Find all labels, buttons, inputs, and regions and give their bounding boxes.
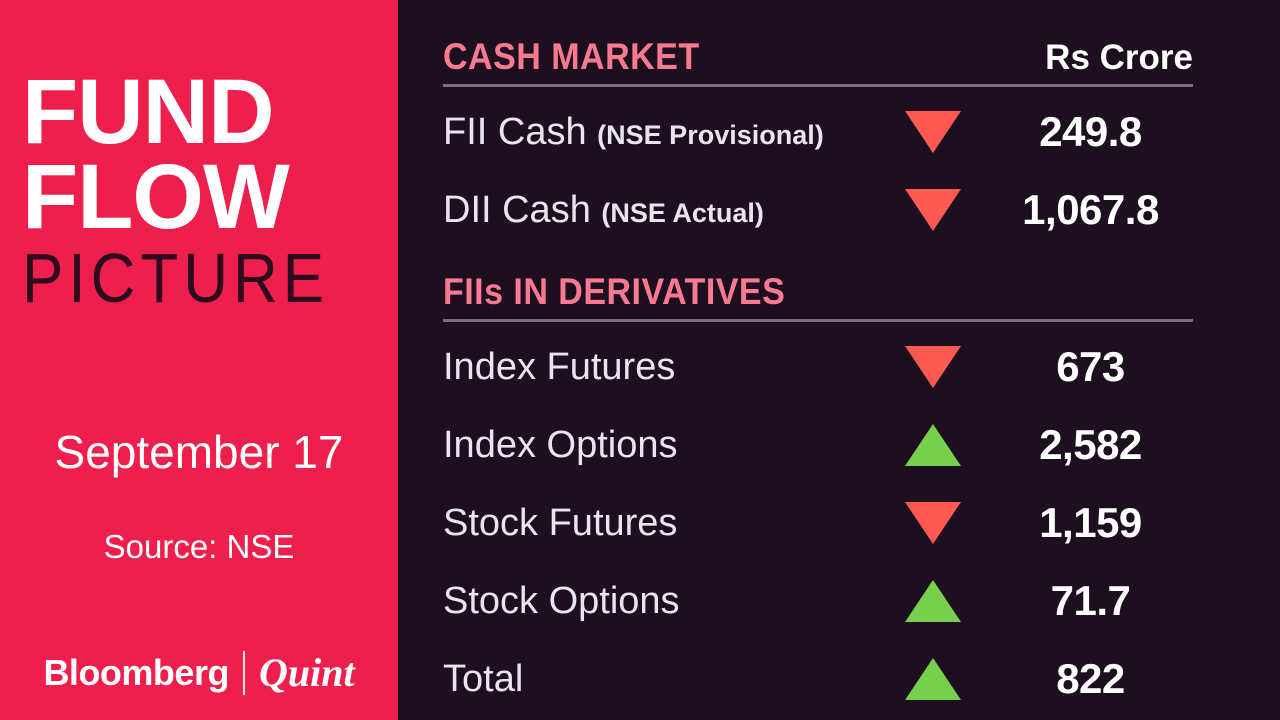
direction-cell [878, 502, 988, 544]
fund-flow-infographic: FUND FLOW PICTURE September 17 Source: N… [0, 0, 1280, 720]
brand-title-line-1: FUND [22, 70, 382, 155]
logo-separator-icon [243, 651, 245, 695]
brand-title-line-2: FLOW [22, 155, 382, 240]
row-sublabel-text: (NSE Actual) [601, 198, 764, 228]
row-value-total: 822 [988, 655, 1193, 703]
direction-cell [878, 424, 988, 466]
section-cash-market-header: CASH MARKET Rs Crore [443, 36, 1193, 80]
row-value-dii-cash: 1,067.8 [988, 186, 1193, 234]
direction-cell [878, 111, 988, 153]
row-label-stock-futures: Stock Futures [443, 502, 878, 545]
logo-bloomberg-text: Bloomberg [43, 652, 229, 694]
table-row: Stock Options 71.7 [443, 562, 1193, 640]
row-value-index-futures: 673 [988, 343, 1193, 391]
table-row: Index Futures 673 [443, 328, 1193, 406]
row-label-text: Index Options [443, 424, 677, 466]
row-label-text: DII Cash [443, 189, 591, 231]
data-panel: CASH MARKET Rs Crore FII Cash (NSE Provi… [398, 0, 1280, 720]
cash-market-rows: FII Cash (NSE Provisional) 249.8 DII Cas… [443, 93, 1193, 249]
section-cash-market-title: CASH MARKET [443, 36, 700, 78]
triangle-up-icon [905, 580, 961, 622]
section-divider [443, 319, 1193, 322]
data-source-label: Source: NSE [0, 528, 398, 566]
triangle-down-icon [905, 346, 961, 388]
table-row: DII Cash (NSE Actual) 1,067.8 [443, 171, 1193, 249]
row-sublabel-text: (NSE Provisional) [597, 120, 824, 150]
row-value-fii-cash: 249.8 [988, 108, 1193, 156]
direction-cell [878, 580, 988, 622]
triangle-down-icon [905, 111, 961, 153]
publisher-logo: Bloomberg Quint [0, 649, 398, 696]
brand-title-block: FUND FLOW PICTURE [22, 70, 382, 307]
row-label-index-options: Index Options [443, 424, 878, 467]
row-label-stock-options: Stock Options [443, 580, 878, 623]
derivatives-rows: Index Futures 673 Index Options 2,582 [443, 328, 1193, 718]
row-value-stock-options: 71.7 [988, 577, 1193, 625]
report-date: September 17 [0, 425, 398, 479]
table-row: Total 822 [443, 640, 1193, 718]
table-row: Index Options 2,582 [443, 406, 1193, 484]
row-value-index-options: 2,582 [988, 421, 1193, 469]
brand-title-line-3: PICTURE [22, 245, 382, 314]
row-label-dii-cash: DII Cash (NSE Actual) [443, 189, 878, 232]
direction-cell [878, 658, 988, 700]
unit-label-rs-crore: Rs Crore [1045, 38, 1193, 78]
row-label-index-futures: Index Futures [443, 346, 878, 389]
row-value-stock-futures: 1,159 [988, 499, 1193, 547]
triangle-down-icon [905, 189, 961, 231]
row-label-text: Total [443, 658, 523, 700]
triangle-down-icon [905, 502, 961, 544]
direction-cell [878, 189, 988, 231]
triangle-up-icon [905, 658, 961, 700]
table-row: FII Cash (NSE Provisional) 249.8 [443, 93, 1193, 171]
direction-cell [878, 346, 988, 388]
section-derivatives-title: FIIs IN DERIVATIVES [443, 271, 785, 313]
table-row: Stock Futures 1,159 [443, 484, 1193, 562]
section-fiis-in-derivatives: FIIs IN DERIVATIVES Index Futures 673 [443, 271, 1193, 718]
row-label-total: Total [443, 658, 878, 701]
row-label-text: Index Futures [443, 346, 675, 388]
row-label-text: FII Cash [443, 111, 587, 153]
triangle-up-icon [905, 424, 961, 466]
section-cash-market: CASH MARKET Rs Crore FII Cash (NSE Provi… [443, 36, 1193, 249]
section-derivatives-header: FIIs IN DERIVATIVES [443, 271, 1193, 315]
section-spacer [443, 249, 1195, 271]
row-label-text: Stock Futures [443, 502, 677, 544]
branding-panel: FUND FLOW PICTURE September 17 Source: N… [0, 0, 398, 720]
row-label-text: Stock Options [443, 580, 680, 622]
logo-quint-text: Quint [259, 649, 355, 696]
section-divider [443, 84, 1193, 87]
row-label-fii-cash: FII Cash (NSE Provisional) [443, 111, 878, 154]
